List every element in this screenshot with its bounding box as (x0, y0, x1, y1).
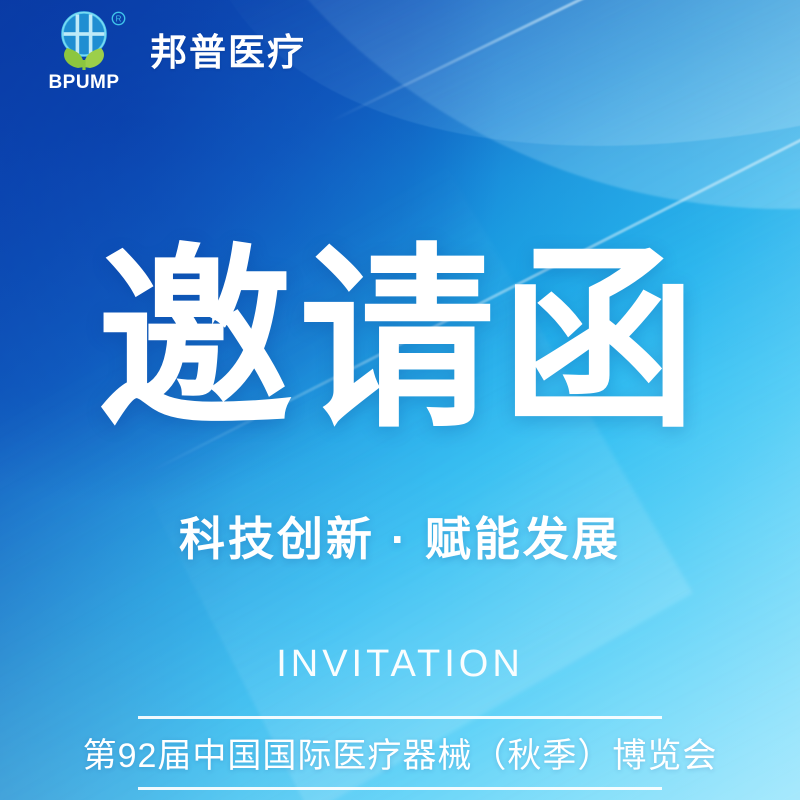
bpump-circle-emblem-icon: R BPUMP (48, 10, 128, 92)
invitation-english-label: INVITATION (0, 645, 800, 683)
company-name: 邦普医疗 (150, 34, 306, 71)
svg-text:BPUMP: BPUMP (48, 72, 119, 92)
brand-header: R BPUMP 邦普医疗 (48, 10, 306, 92)
divider-top (138, 716, 662, 719)
poster-subtitle: 科技创新 · 赋能发展 (0, 512, 800, 567)
event-name: 第92届中国国际医疗器械（秋季）博览会 (0, 736, 800, 777)
invitation-poster: R BPUMP 邦普医疗 邀请函 科技创新 · 赋能发展 INVITATION (0, 0, 800, 800)
svg-text:R: R (116, 15, 122, 24)
page-title: 邀请函 (0, 243, 800, 439)
divider-bottom (138, 787, 662, 790)
